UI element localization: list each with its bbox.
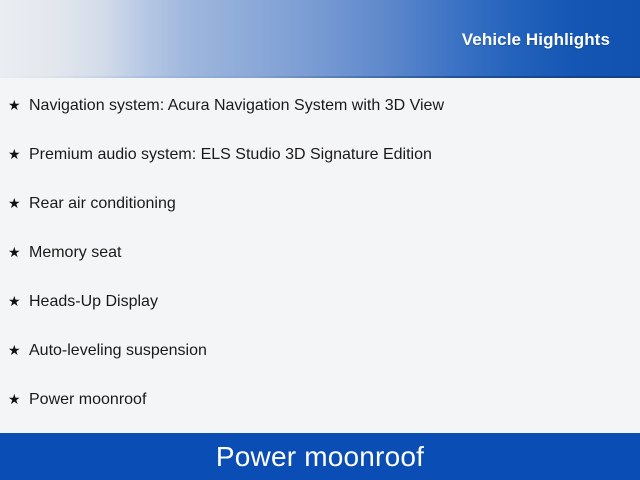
list-item: ★ Auto-leveling suspension: [0, 343, 640, 392]
star-bullet-icon: ★: [8, 98, 20, 112]
star-bullet-icon: ★: [8, 294, 20, 308]
star-bullet-icon: ★: [8, 147, 20, 161]
vehicle-highlights-slide: Vehicle Highlights ★ Navigation system: …: [0, 0, 640, 480]
star-bullet-icon: ★: [8, 245, 20, 259]
list-item-label: Memory seat: [29, 245, 640, 261]
list-item-label: Power moonroof: [29, 392, 640, 408]
star-bullet-icon: ★: [8, 343, 20, 357]
footer-caption-bar: Power moonroof: [0, 433, 640, 480]
list-item-label: Heads-Up Display: [29, 294, 640, 310]
list-item-label: Rear air conditioning: [29, 196, 640, 212]
page-title: Vehicle Highlights: [462, 30, 610, 50]
header-banner: Vehicle Highlights: [0, 0, 640, 78]
highlights-list: ★ Navigation system: Acura Navigation Sy…: [0, 78, 640, 433]
list-item-label: Auto-leveling suspension: [29, 343, 640, 359]
list-item: ★ Power moonroof: [0, 392, 640, 433]
list-item-label: Navigation system: Acura Navigation Syst…: [29, 98, 640, 114]
star-bullet-icon: ★: [8, 392, 20, 406]
list-item-label: Premium audio system: ELS Studio 3D Sign…: [29, 147, 640, 163]
list-item: ★ Navigation system: Acura Navigation Sy…: [0, 98, 640, 147]
footer-caption-text: Power moonroof: [216, 443, 424, 471]
list-item: ★ Premium audio system: ELS Studio 3D Si…: [0, 147, 640, 196]
list-item: ★ Heads-Up Display: [0, 294, 640, 343]
list-item: ★ Rear air conditioning: [0, 196, 640, 245]
highlights-panel: ★ Navigation system: Acura Navigation Sy…: [0, 78, 640, 433]
list-item: ★ Memory seat: [0, 245, 640, 294]
star-bullet-icon: ★: [8, 196, 20, 210]
